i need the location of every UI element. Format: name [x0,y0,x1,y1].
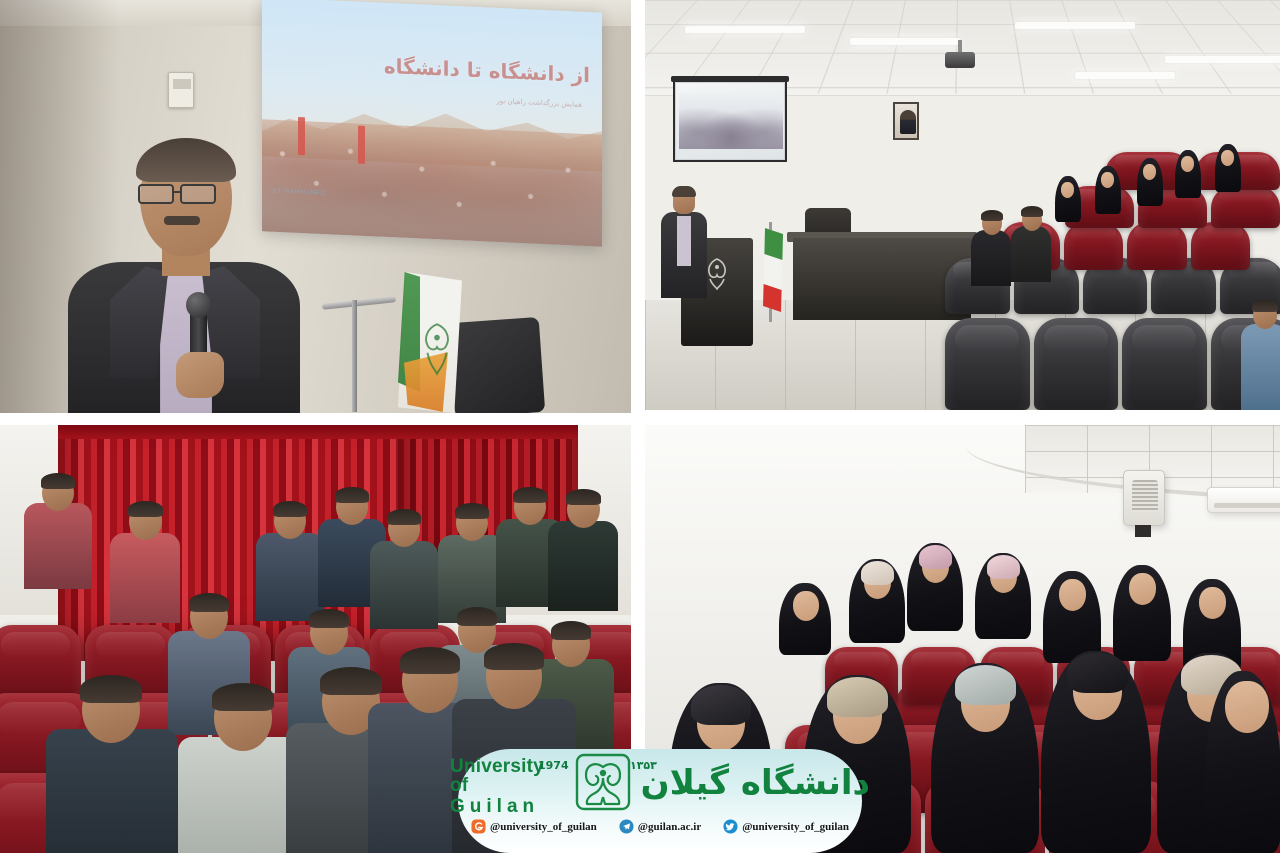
projection-screen: از دانشگاه تا دانشگاه همایش بزرگداشت راه… [262,0,602,247]
projection-screen-bar [671,76,789,82]
bag [449,317,545,413]
attendee-hair [1021,206,1043,217]
photo-top-right [645,0,1280,410]
slide-crowd [262,119,602,247]
attendee-torso [24,503,92,589]
seat [1122,318,1207,410]
microphone-head [186,292,211,318]
attendee-torso [46,729,178,853]
attendee-headscarf [861,561,894,585]
framed-portrait [893,102,919,140]
attendee-torso [370,541,438,629]
iranian-flag [763,228,785,316]
ceiling-light-1 [685,26,805,33]
speaker-bracket [1135,525,1151,537]
wall-speaker-icon [1123,470,1165,526]
air-conditioner-icon [1207,487,1280,513]
founding-year-gregorian: 1974 [538,759,569,772]
attendee-hair [335,487,369,503]
attendee-headscarf [1067,653,1128,693]
social-handle-telegram: @guilan.ac.ir [638,821,701,833]
glasses-bridge [174,191,182,193]
watermark-social-row: @university_of_guilan @guilan.ac.ir @uni… [471,819,849,834]
instagram-icon [471,819,486,834]
watermark-main-row: 1974 ۱۳۵۳ University of Guilan [450,745,870,817]
attendee-hair [551,621,591,640]
social-handle-twitter: @university_of_guilan [742,821,849,833]
projection-screen [675,82,785,160]
banner-emblem-icon [418,318,456,380]
seat [1211,186,1280,228]
university-watermark: 1974 ۱۳۵۳ University of Guilan [450,745,870,853]
attendee-face [793,591,819,621]
attendee-hair [981,210,1003,221]
attendee-hair [400,647,460,674]
attendee-hair [513,487,547,503]
attendee-headscarf [919,545,952,569]
photo-collage: از دانشگاه تا دانشگاه همایش بزرگداشت راه… [0,0,1280,853]
social-item-instagram[interactable]: @university_of_guilan [471,819,597,834]
thermostat-icon [168,72,194,108]
twitter-icon [723,819,738,834]
ceiling-light-2 [850,38,960,45]
attendee-face [1059,579,1086,611]
attendee-torso [256,533,324,621]
glasses-lens-right [180,184,216,204]
attendee-hair [457,607,497,626]
projector [945,52,975,68]
speaker-hand [176,352,224,398]
telegram-icon [619,819,634,834]
attendee-torso [1011,226,1051,282]
attendee-hair [566,489,601,505]
attendee-face [1225,681,1269,733]
attendee-headscarf [827,677,888,717]
attendee-headscarf [955,665,1016,705]
attendee-hair [455,503,489,519]
watermark-name-line2: Guilan [450,797,539,816]
glasses-lens-left [138,184,174,204]
attendee-hair [41,473,75,489]
attendee-hair [189,593,229,612]
speaker-figure [659,188,707,298]
attendee-torso [971,230,1011,286]
speaker-hair [136,138,236,182]
attendee-torso [110,533,180,623]
university-emblem-icon [703,256,731,290]
attendee-hair [387,509,421,525]
projected-slide [679,93,783,149]
attendee-face [1199,587,1226,619]
founding-year-persian: ۱۳۵۳ [630,759,657,772]
attendee-face [1221,150,1234,166]
attendee-hair [128,501,163,517]
university-emblem-icon [575,753,631,811]
attendee-headscarf [987,555,1020,579]
seat [1064,222,1124,270]
flag-pole [352,300,357,412]
seat [945,318,1030,410]
attendee-face [1181,156,1194,172]
photo-top-left: از دانشگاه تا دانشگاه همایش بزرگداشت راه… [0,0,631,413]
attendee-torso [1241,324,1280,410]
ceiling-light-5 [1075,72,1175,79]
attendee-torso [548,521,618,611]
social-item-telegram[interactable]: @guilan.ac.ir [619,819,701,834]
seat-row [945,318,1280,410]
attendee-hair [484,643,544,670]
attendee-hair [80,675,142,703]
social-item-twitter[interactable]: @university_of_guilan [723,819,849,834]
attendee-face [1129,573,1156,605]
seat [1127,222,1187,270]
speaker-figure [62,142,312,413]
ceiling-light-3 [1015,22,1135,29]
attendee-hair [212,683,274,711]
social-handle-instagram: @university_of_guilan [490,821,597,833]
attendee-hair [273,501,307,517]
attendee-face [1143,164,1156,180]
speaker-hair [672,186,696,197]
attendee-face [1101,172,1114,188]
speaker-shirt [677,216,691,266]
seat [1034,318,1119,410]
watermark-persian-name: دانشگاه گیلان [641,763,870,803]
attendee-hair [320,667,382,695]
attendee-headscarf [691,685,751,725]
attendee-hair [309,609,349,628]
ceiling-light-4 [1165,56,1280,63]
seat [1191,222,1251,270]
attendee-face [1061,182,1074,198]
slide-banner-2 [358,126,365,164]
attendee-hair [1252,300,1278,312]
curtain-rail [58,425,578,439]
speaker-mustache [164,216,200,225]
